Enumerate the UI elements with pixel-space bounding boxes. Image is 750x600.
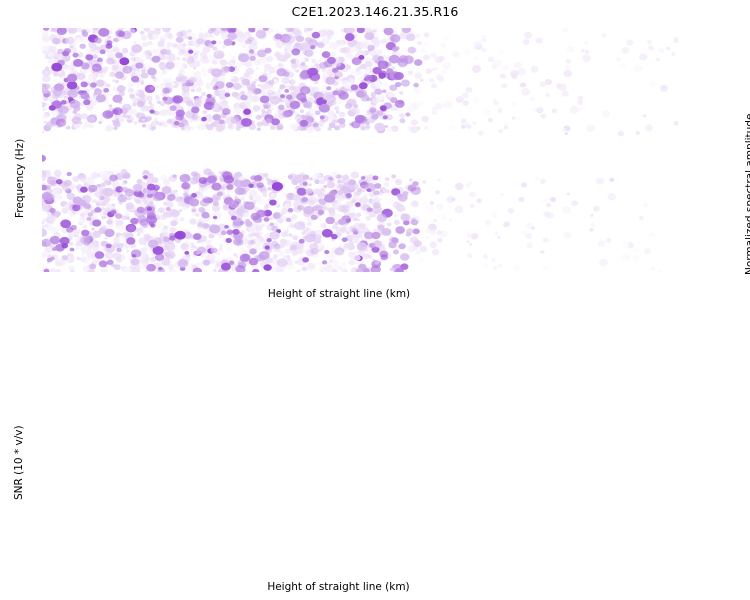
spectrogram-svg	[0, 0, 750, 310]
spectrogram-panel	[0, 0, 750, 310]
colorbar-label: Normalized spectral amplitude	[744, 114, 750, 275]
spectrogram-x-axis-label: Height of straight line (km)	[0, 288, 678, 300]
snr-x-axis-label: Height of straight line (km)	[0, 581, 677, 593]
spectrogram-y-axis-label: Frequency (Hz)	[14, 139, 26, 218]
spectrogram-data-layer	[37, 25, 681, 276]
figure-canvas: C2E1.2023.146.21.35.R16 Frequency (Hz) H…	[0, 0, 750, 600]
snr-y-axis-label: SNR (10 * v/v)	[13, 425, 25, 500]
snr-panel	[0, 310, 750, 600]
snr-svg	[0, 310, 750, 600]
